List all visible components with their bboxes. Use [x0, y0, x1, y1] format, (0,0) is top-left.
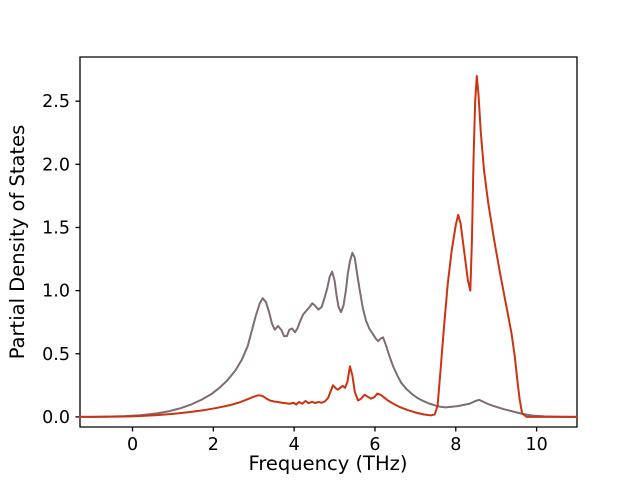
- y-tick-label: 2.5: [42, 92, 70, 112]
- y-axis-ticks: 0.00.51.01.52.02.5: [42, 92, 80, 428]
- y-tick-label: 0.5: [42, 345, 70, 365]
- x-tick-label: 8: [450, 435, 461, 455]
- y-tick-label: 1.0: [42, 282, 70, 302]
- x-axis-ticks: 0246810: [127, 427, 548, 455]
- x-tick-label: 0: [127, 435, 138, 455]
- x-axis-title: Frequency (THz): [249, 452, 408, 475]
- figure-canvas: 0246810 0.00.51.01.52.02.5 Frequency (TH…: [0, 0, 640, 480]
- pdos-plot: 0246810 0.00.51.01.52.02.5 Frequency (TH…: [0, 0, 640, 480]
- plot-background: [80, 57, 577, 427]
- x-tick-label: 2: [208, 435, 219, 455]
- axes-frame: [80, 57, 577, 427]
- y-axis-title: Partial Density of States: [6, 125, 29, 360]
- y-tick-label: 1.5: [42, 218, 70, 238]
- x-tick-label: 10: [525, 435, 547, 455]
- y-tick-label: 2.0: [42, 155, 70, 175]
- y-tick-label: 0.0: [42, 408, 70, 428]
